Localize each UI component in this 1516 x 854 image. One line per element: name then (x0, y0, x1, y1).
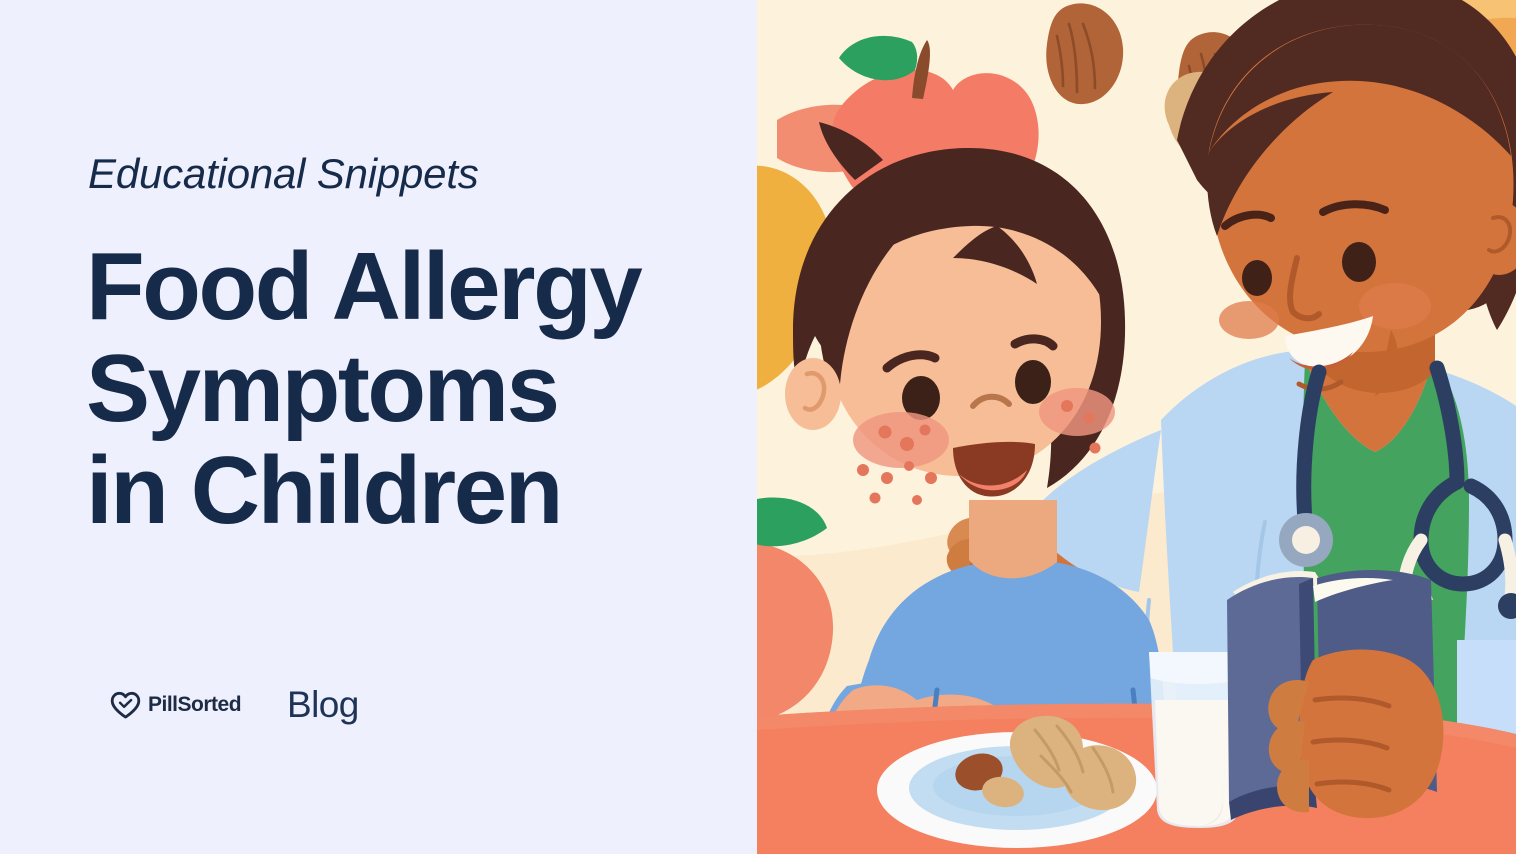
child-eye-right (1015, 360, 1051, 404)
brand-name: PillSorted (148, 693, 241, 717)
doctor-eye-left (1242, 260, 1272, 296)
eyebrow-label: Educational Snippets (88, 150, 479, 198)
doctor-cheek-left (1219, 301, 1279, 339)
headline-line-2: Symptoms (86, 338, 726, 440)
child-ear (785, 358, 841, 430)
hero-illustration (757, 0, 1516, 854)
doctor-and-child-illustration (757, 0, 1516, 854)
brand-logo-lockup[interactable]: PillSorted (110, 691, 241, 719)
blog-section-label[interactable]: Blog (287, 684, 359, 726)
doctor-eye-right (1342, 242, 1376, 282)
child-neck (969, 500, 1057, 578)
blog-hero-banner: Educational Snippets Food Allergy Sympto… (0, 0, 1516, 854)
text-panel: Educational Snippets Food Allergy Sympto… (0, 0, 757, 854)
brand-footer: PillSorted Blog (110, 684, 359, 726)
heart-check-icon (110, 691, 141, 719)
page-title: Food Allergy Symptoms in Children (86, 236, 726, 541)
headline-line-3: in Children (86, 440, 726, 542)
headline-line-1: Food Allergy (86, 236, 726, 338)
